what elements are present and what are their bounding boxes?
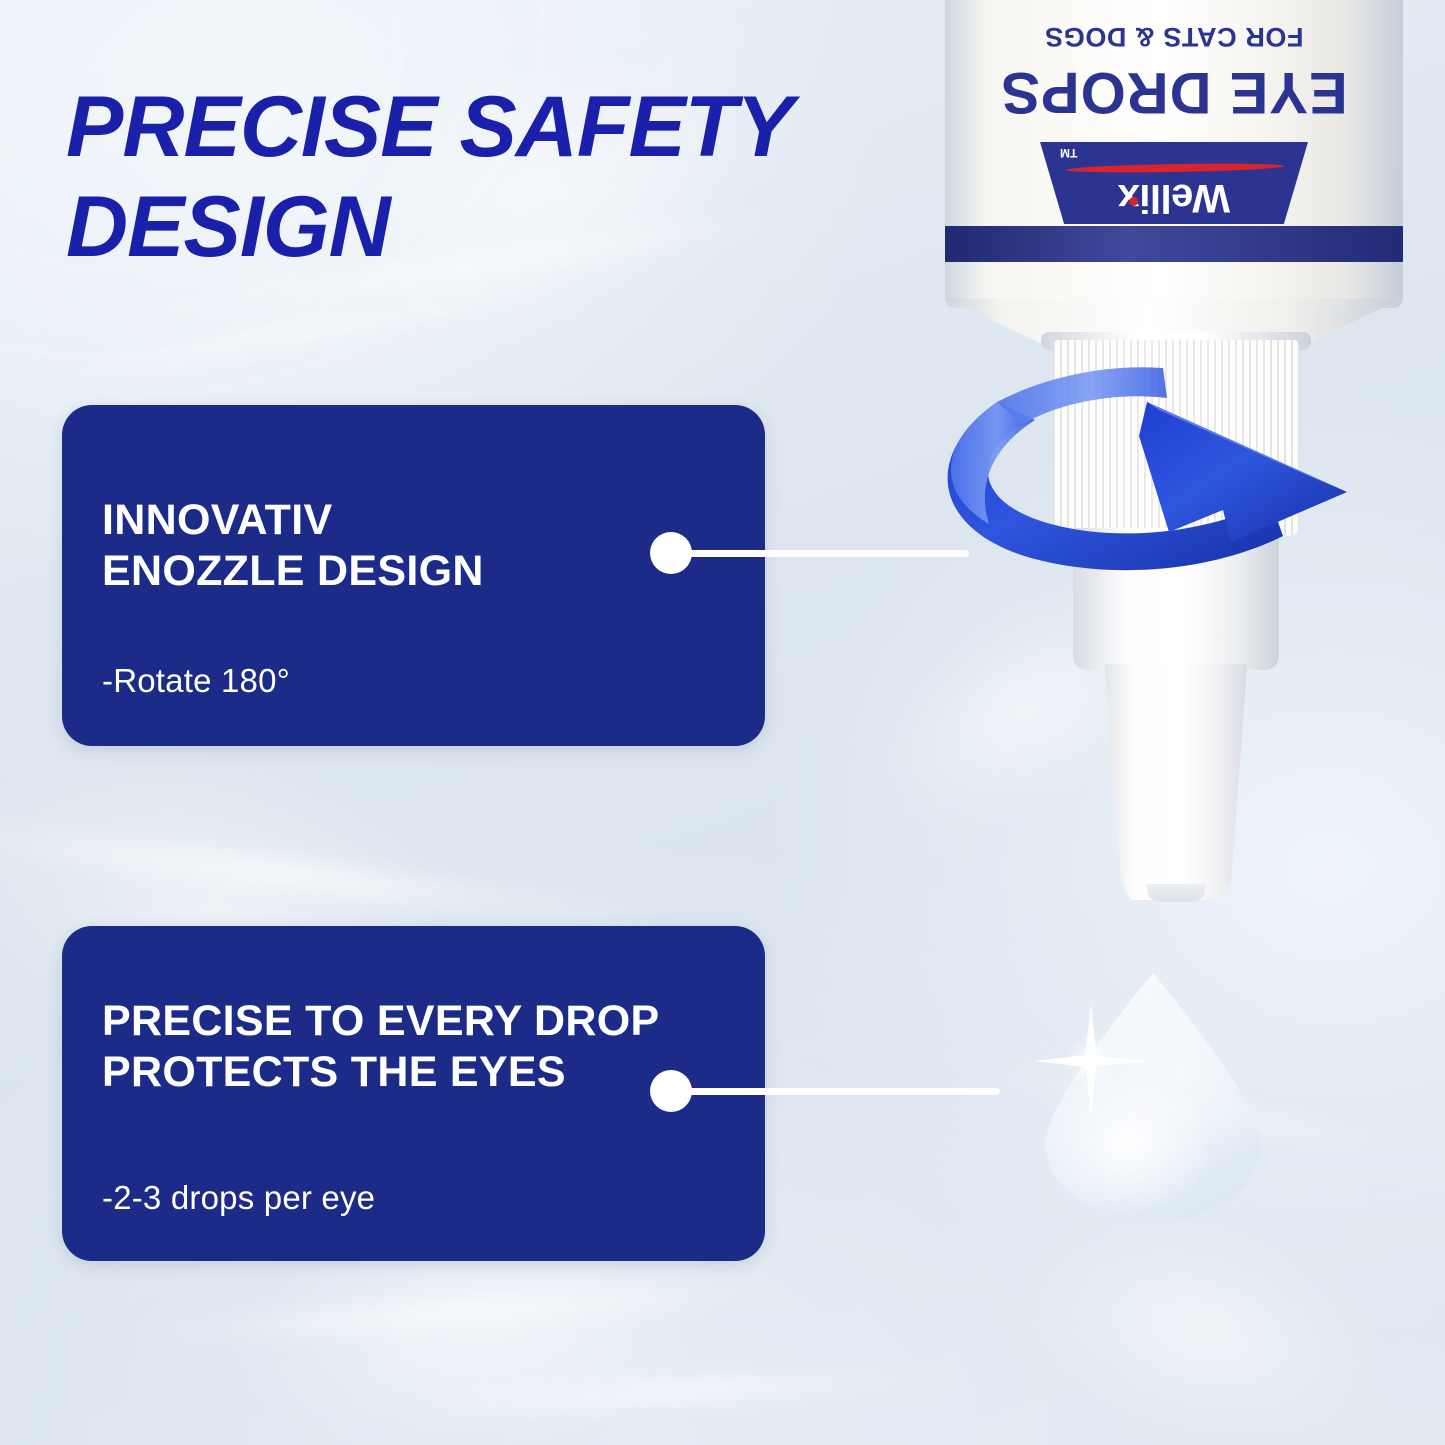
bottle-label-inverted: Wellix TM EYE DROPS FOR CATS & DOGS xyxy=(945,0,1403,238)
brand-name: Wellix xyxy=(1040,175,1308,220)
nozzle-tip xyxy=(1095,664,1257,900)
product-bottle-image: Wellix TM EYE DROPS FOR CATS & DOGS xyxy=(905,0,1445,1258)
water-droplet xyxy=(1045,973,1261,1223)
callout-subtitle: -2-3 drops per eye xyxy=(102,1179,375,1217)
brand-dot-icon xyxy=(1129,197,1138,206)
callout-subtitle: -Rotate 180° xyxy=(102,662,290,700)
trademark-mark: TM xyxy=(1060,146,1077,160)
label-product-name: EYE DROPS xyxy=(945,59,1403,126)
callout-title: INNOVATIV ENOZZLE DESIGN xyxy=(102,495,484,596)
page-title: PRECISE SAFETY DESIGN xyxy=(66,78,946,278)
label-target-animals: FOR CATS & DOGS xyxy=(945,21,1403,52)
callout-card-nozzle-design: INNOVATIV ENOZZLE DESIGN -Rotate 180° xyxy=(62,405,765,746)
brand-badge: Wellix TM xyxy=(1040,142,1308,224)
nozzle-opening xyxy=(1147,884,1205,902)
rotation-arrow-icon xyxy=(911,306,1381,596)
brand-swoosh-icon xyxy=(1066,162,1284,174)
sparkle-icon xyxy=(1031,1001,1151,1121)
callout-title: PRECISE TO EVERY DROP PROTECTS THE EYES xyxy=(102,996,660,1097)
